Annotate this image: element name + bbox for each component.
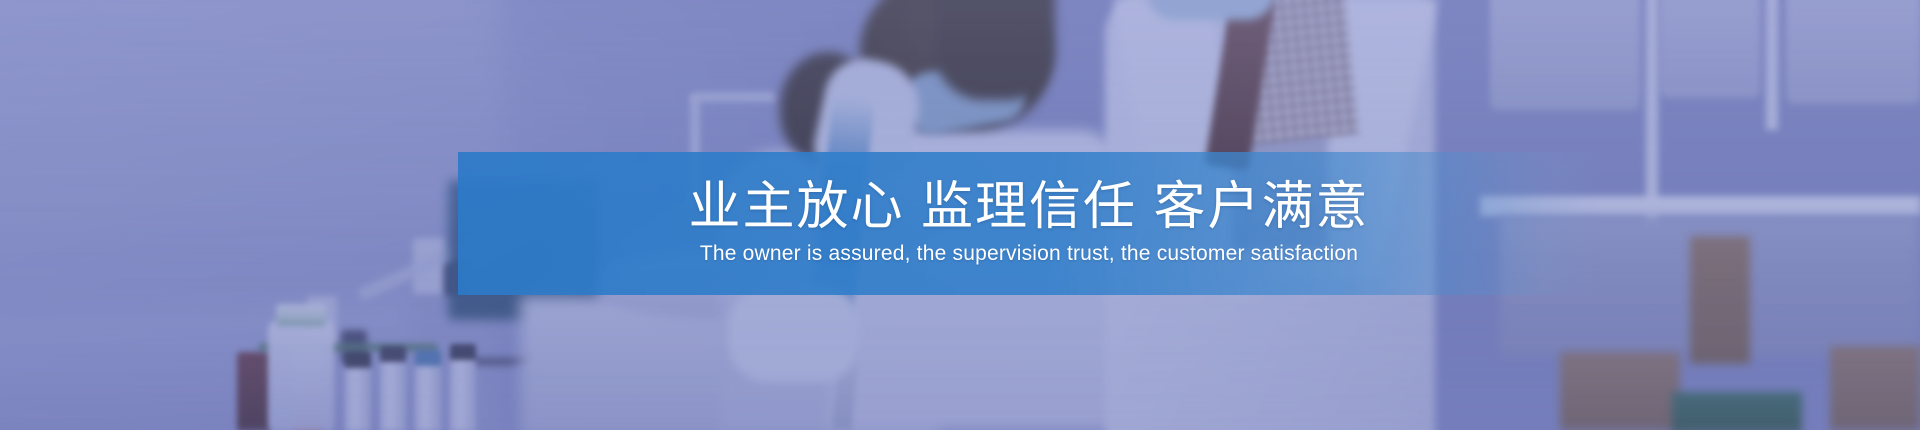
hero-banner: 业主放心 监理信任 客户满意 The owner is assured, the… (0, 0, 1920, 430)
slogan-headline: 业主放心 监理信任 客户满意 (689, 180, 1370, 235)
slogan-subtitle: The owner is assured, the supervision tr… (700, 241, 1358, 266)
slogan-block: 业主放心 监理信任 客户满意 The owner is assured, the… (458, 152, 1600, 295)
